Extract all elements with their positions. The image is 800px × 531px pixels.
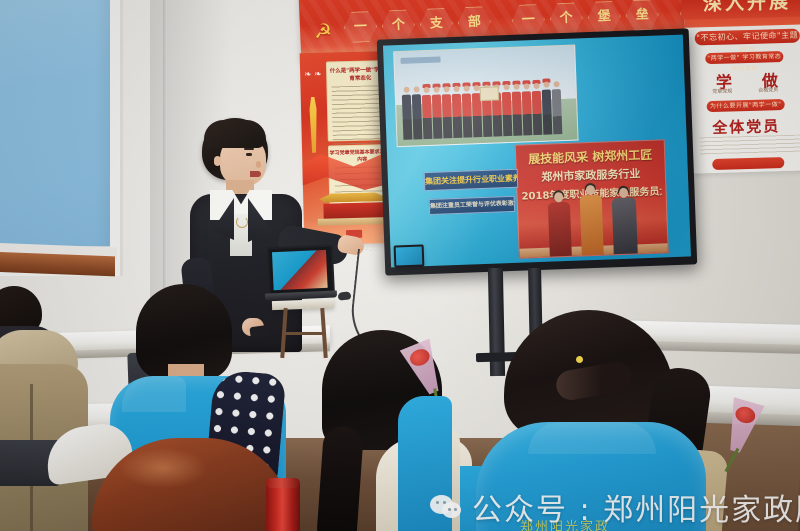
slide-photo-people (401, 72, 573, 140)
small-monitor (394, 244, 425, 267)
banner-word: 个 (549, 2, 583, 34)
banner-word: 垒 (625, 0, 659, 31)
slide-award-photo: 展技能风采 树郑州工匠 郑州市家政服务行业 2018年度职业技能家政服务员大赛 (515, 139, 669, 258)
banner-word: 支 (419, 8, 453, 40)
audience-hair (92, 438, 292, 531)
award-photo-person (548, 202, 572, 257)
banner-spacer (495, 5, 507, 36)
poster-pill: "不忘初心、牢记使命"主题教育 (695, 29, 800, 46)
banner-spacer (663, 0, 675, 30)
award-photo-person (580, 195, 604, 256)
poster-subtext: 党章党规 (712, 87, 732, 95)
award-plaque (480, 86, 500, 101)
banner-word: 部 (457, 6, 491, 38)
poster-subtext: 合格党员 (758, 86, 778, 94)
watermark: 公众号 : 郑州阳光家政服务公司 (430, 485, 800, 529)
wall-seam (163, 0, 167, 300)
presenter-eye (246, 153, 252, 156)
wall-mounted-display: 展技能风采 树郑州工匠 郑州市家政服务行业 2018年度职业技能家政服务员大赛 … (377, 28, 697, 275)
photo-scene: ☭ 一 个 支 部 一 个 堡 垒 一 个 党 员 一 面 旗 帜 开展背景及时… (0, 0, 800, 531)
watermark-text: 公众号 : 郑州阳光家政服务公司 (472, 485, 800, 529)
window-blind (0, 0, 110, 254)
presenter-mouth (250, 171, 261, 177)
poster-body-text (700, 135, 800, 156)
presenter-brow (244, 148, 254, 150)
presenter-nose (256, 161, 261, 168)
display-screen: 展技能风采 树郑州工匠 郑州市家政服务行业 2018年度职业技能家政服务员大赛 … (383, 35, 691, 268)
presenter-ear (214, 156, 221, 166)
presenter-hair-front (204, 120, 266, 148)
slide-textbox-secondary: 集团注重员工荣誉与评优表彰激励 (429, 196, 516, 215)
wechat-icon (430, 493, 464, 521)
presenter-necklace (236, 216, 248, 228)
hair-clip (576, 356, 583, 363)
banner-word: 一 (511, 4, 545, 36)
hammer-sickle-icon: ☭ (314, 20, 337, 43)
poster-pill: 为什么要开展"两学一做" (707, 99, 785, 112)
banner-word: 个 (381, 9, 415, 41)
ponytail (316, 425, 364, 531)
thermos-cap (266, 478, 300, 488)
poster-pill (712, 157, 784, 170)
banner-word: 堡 (587, 1, 621, 33)
banner-word: 一 (343, 11, 377, 43)
dove-icon: ❧ ❧ (304, 69, 322, 80)
window-sill-wood (0, 252, 115, 277)
poster-top-headline: 深入开展 (682, 0, 800, 20)
poster-pill: "两学一做" 学习教育常态化制度化 (705, 51, 783, 64)
wall-poster-right: 开展背景及时间 "不忘初心、牢记使命"主题教育 "两学一做" 学习教育常态化制度… (683, 0, 800, 174)
slide-textbox-primary: 集团关注提升行业职业素养 (424, 169, 519, 191)
slide-group-photo (393, 45, 578, 148)
award-photo-person (612, 197, 638, 254)
